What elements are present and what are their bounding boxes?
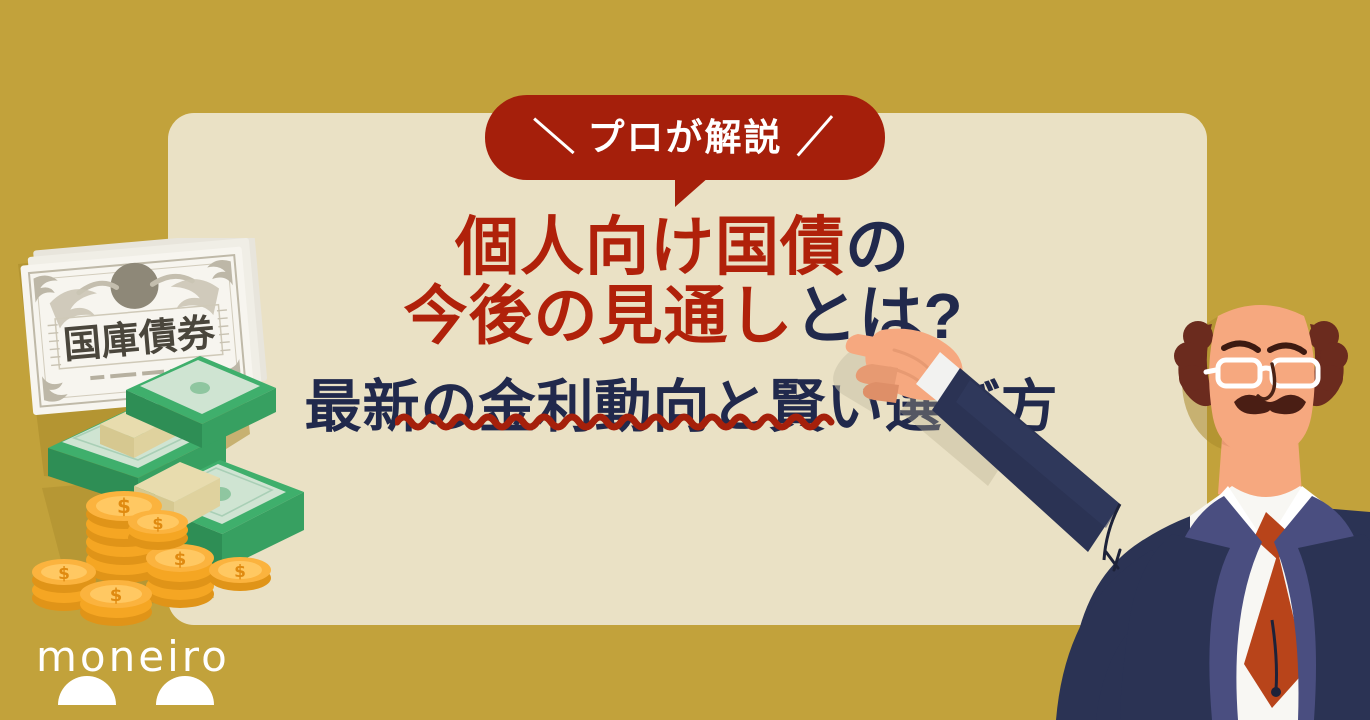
- headline-line-2-red: 今後の見通し: [403, 280, 793, 352]
- badge-text-row: ＼ プロが解説 ／: [534, 118, 837, 158]
- svg-text:$: $: [58, 564, 70, 584]
- badge-tail: [675, 177, 709, 207]
- badge-pill: ＼ プロが解説 ／: [485, 95, 885, 180]
- logo-wordmark: moneiro: [36, 636, 236, 678]
- headline-line-1-navy: の: [845, 211, 910, 283]
- svg-text:$: $: [152, 514, 163, 533]
- poster-canvas: 国庫債券: [0, 0, 1370, 720]
- moneiro-logo[interactable]: moneiro: [36, 636, 236, 706]
- headline-line-1: 個人向け国債の: [158, 213, 1207, 282]
- badge-slash-right-icon: ／: [793, 116, 838, 159]
- svg-text:$: $: [110, 585, 123, 606]
- svg-text:$: $: [117, 494, 131, 518]
- badge-slash-left-icon: ＼: [532, 116, 577, 159]
- expert-person-illustration: [820, 290, 1370, 720]
- headline-line-1-red: 個人向け国債: [455, 211, 845, 283]
- pointing-hand: [846, 329, 1120, 552]
- svg-text:$: $: [174, 549, 187, 570]
- pro-explains-badge: ＼ プロが解説 ／: [485, 95, 885, 210]
- badge-label: プロが解説: [588, 119, 783, 156]
- svg-text:$: $: [234, 562, 246, 582]
